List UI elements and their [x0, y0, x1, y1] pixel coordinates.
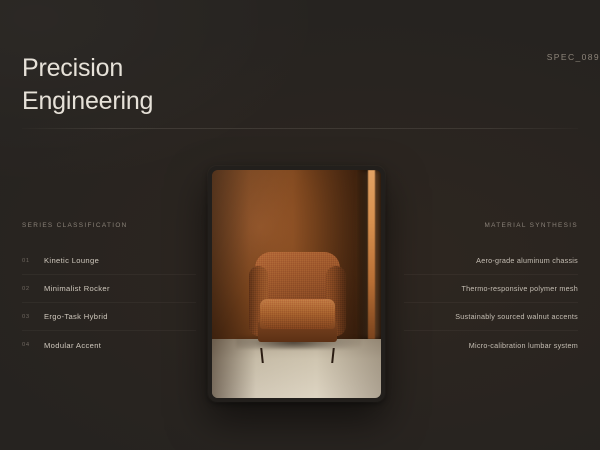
- material-synthesis-heading: MATERIAL SYNTHESIS: [404, 222, 578, 233]
- list-item-index: 02: [22, 286, 44, 292]
- light-strip: [368, 170, 375, 339]
- list-item-label: Modular Accent: [44, 341, 101, 350]
- list-item-label: Thermo-responsive polymer mesh: [461, 284, 578, 293]
- product-showcase-card[interactable]: [208, 166, 385, 402]
- spec-code-label: SPEC_089: [547, 52, 600, 62]
- series-classification-list: 01 Kinetic Lounge 02 Minimalist Rocker 0…: [22, 247, 196, 359]
- list-item-label: Aero-grade aluminum chassis: [476, 256, 578, 265]
- page-header: Precision Engineering: [22, 52, 578, 119]
- list-item[interactable]: 04 Modular Accent: [22, 331, 196, 359]
- list-item-index: 03: [22, 314, 44, 320]
- list-item-label: Sustainably sourced walnut accents: [455, 312, 578, 321]
- list-item-index: 01: [22, 258, 44, 264]
- showcase-image: [212, 170, 381, 398]
- header-divider: [22, 128, 578, 129]
- list-item-label: Micro-calibration lumbar system: [469, 341, 578, 350]
- list-item-label: Kinetic Lounge: [44, 256, 99, 265]
- armchair: [249, 252, 345, 350]
- page-title: Precision Engineering: [22, 52, 578, 119]
- fabric-texture: [260, 299, 335, 328]
- list-item[interactable]: 02 Minimalist Rocker: [22, 275, 196, 303]
- material-synthesis-list: Aero-grade aluminum chassis Thermo-respo…: [404, 247, 578, 359]
- material-synthesis-column: MATERIAL SYNTHESIS Aero-grade aluminum c…: [404, 222, 578, 359]
- list-item[interactable]: 01 Kinetic Lounge: [22, 247, 196, 275]
- list-item[interactable]: 03 Ergo-Task Hybrid: [22, 303, 196, 331]
- armchair-seat-cushion: [260, 299, 335, 328]
- list-item-label: Ergo-Task Hybrid: [44, 312, 108, 321]
- list-item-index: 04: [22, 342, 44, 348]
- list-item[interactable]: Sustainably sourced walnut accents: [404, 303, 578, 331]
- list-item-label: Minimalist Rocker: [44, 284, 110, 293]
- list-item[interactable]: Micro-calibration lumbar system: [404, 331, 578, 359]
- series-classification-column: SERIES CLASSIFICATION 01 Kinetic Lounge …: [22, 222, 196, 359]
- list-item[interactable]: Thermo-responsive polymer mesh: [404, 275, 578, 303]
- list-item[interactable]: Aero-grade aluminum chassis: [404, 247, 578, 275]
- series-classification-heading: SERIES CLASSIFICATION: [22, 222, 196, 233]
